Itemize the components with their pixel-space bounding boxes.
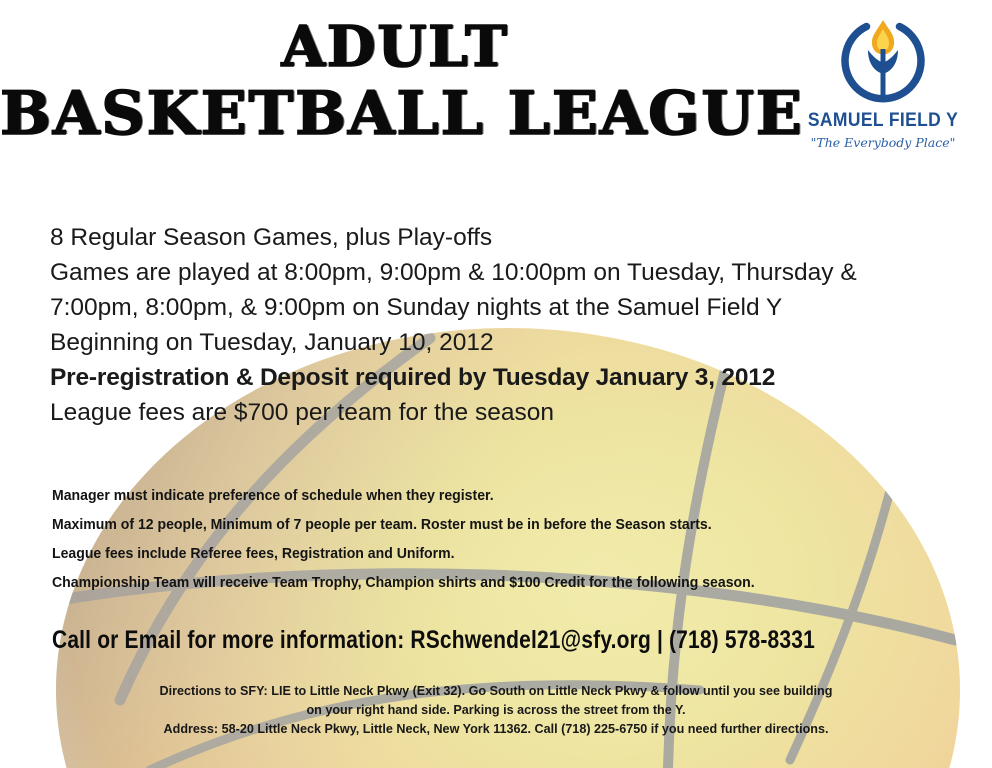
rules-block: Manager must indicate preference of sche… — [52, 482, 982, 598]
y-flame-circle-icon — [833, 16, 933, 108]
logo-tagline-text: "The Everybody Place" — [800, 135, 966, 150]
directions-line-route: Directions to SFY: LIE to Little Neck Pk… — [0, 682, 992, 701]
rule-line-manager-preference: Manager must indicate preference of sche… — [52, 482, 954, 511]
info-line-league-fees: League fees are $700 per team for the se… — [50, 395, 970, 430]
directions-line-parking: on your right hand side. Parking is acro… — [0, 701, 992, 720]
contact-call-or-email[interactable]: Call or Email for more information: RSch… — [52, 624, 833, 656]
flyer-page: ADULT BASKETBALL LEAGUE SAMUEL FIELD Y "… — [0, 0, 992, 768]
info-line-game-times-a: Games are played at 8:00pm, 9:00pm & 10:… — [50, 255, 970, 290]
page-title: ADULT BASKETBALL LEAGUE — [0, 18, 790, 147]
rule-line-championship-prize: Championship Team will receive Team Trop… — [52, 569, 954, 598]
logo-name-text: SAMUEL FIELD Y — [807, 110, 960, 132]
info-line-start-date: Beginning on Tuesday, January 10, 2012 — [50, 325, 970, 360]
title-line-adult: ADULT — [0, 18, 790, 77]
directions-line-address: Address: 58-20 Little Neck Pkwy, Little … — [0, 720, 992, 739]
info-line-game-times-b: 7:00pm, 8:00pm, & 9:00pm on Sunday night… — [50, 290, 970, 325]
directions-block: Directions to SFY: LIE to Little Neck Pk… — [0, 682, 992, 739]
samuel-field-y-logo: SAMUEL FIELD Y "The Everybody Place" — [800, 16, 966, 150]
title-line-basketball-league: BASKETBALL LEAGUE — [0, 83, 790, 147]
league-details-block: 8 Regular Season Games, plus Play-offs G… — [50, 220, 970, 430]
info-line-season-games: 8 Regular Season Games, plus Play-offs — [50, 220, 970, 255]
info-line-preregistration: Pre-registration & Deposit required by T… — [50, 360, 970, 395]
rule-line-fee-inclusions: League fees include Referee fees, Regist… — [52, 540, 954, 569]
contact-block: Call or Email for more information: RSch… — [52, 624, 982, 656]
rule-line-roster-size: Maximum of 12 people, Minimum of 7 peopl… — [52, 511, 954, 540]
